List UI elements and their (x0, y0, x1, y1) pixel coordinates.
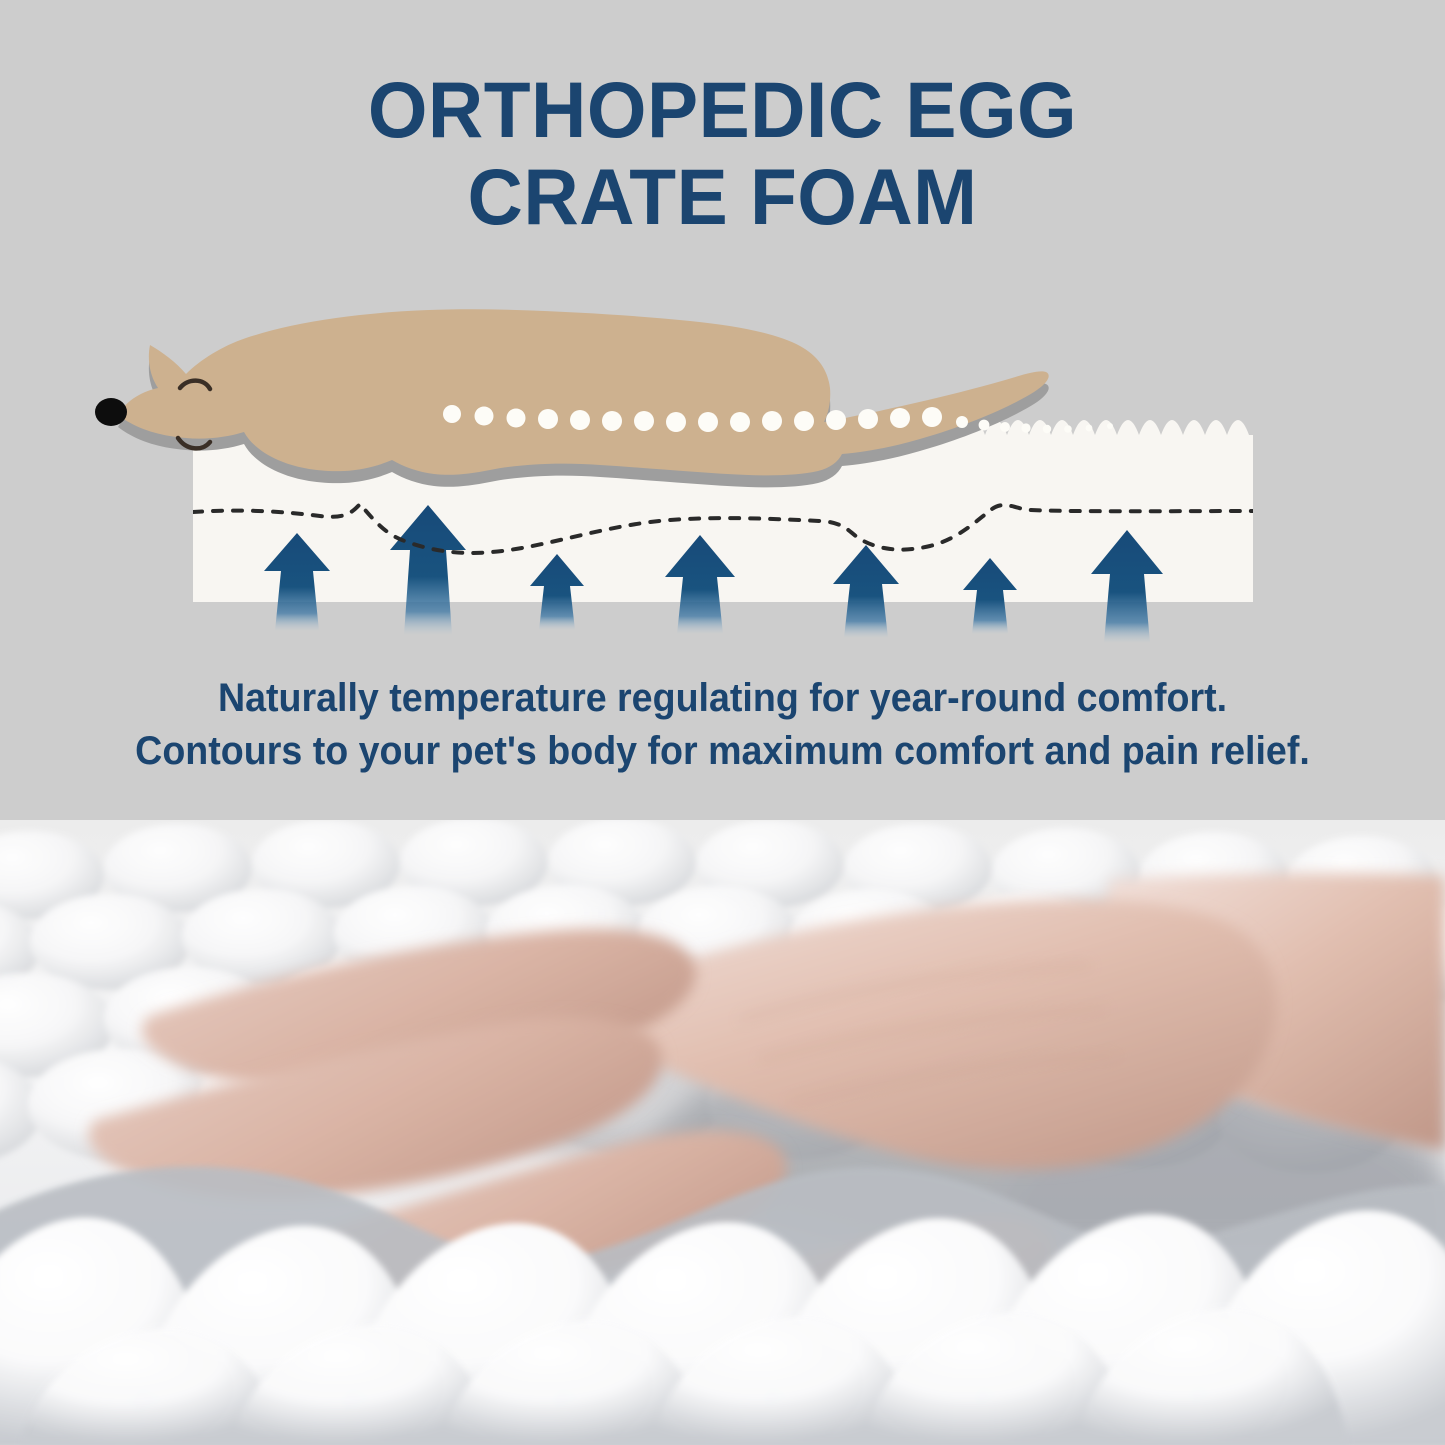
foam-texture-photo (0, 820, 1445, 1445)
feature-description: Naturally temperature regulating for yea… (43, 672, 1401, 778)
illustration-svg (0, 290, 1445, 650)
title-line-2: CRATE FOAM (22, 153, 1424, 240)
infographic-page: ORTHOPEDIC EGG CRATE FOAM (0, 0, 1445, 1445)
dog-nose-icon (95, 398, 127, 426)
description-line-1: Naturally temperature regulating for yea… (43, 672, 1401, 725)
page-title: ORTHOPEDIC EGG CRATE FOAM (22, 66, 1424, 240)
orthopedic-support-illustration (0, 290, 1445, 650)
title-line-1: ORTHOPEDIC EGG (22, 66, 1424, 153)
foam-photo-svg (0, 820, 1445, 1445)
description-line-2: Contours to your pet's body for maximum … (43, 725, 1401, 778)
top-info-panel: ORTHOPEDIC EGG CRATE FOAM (0, 0, 1445, 822)
